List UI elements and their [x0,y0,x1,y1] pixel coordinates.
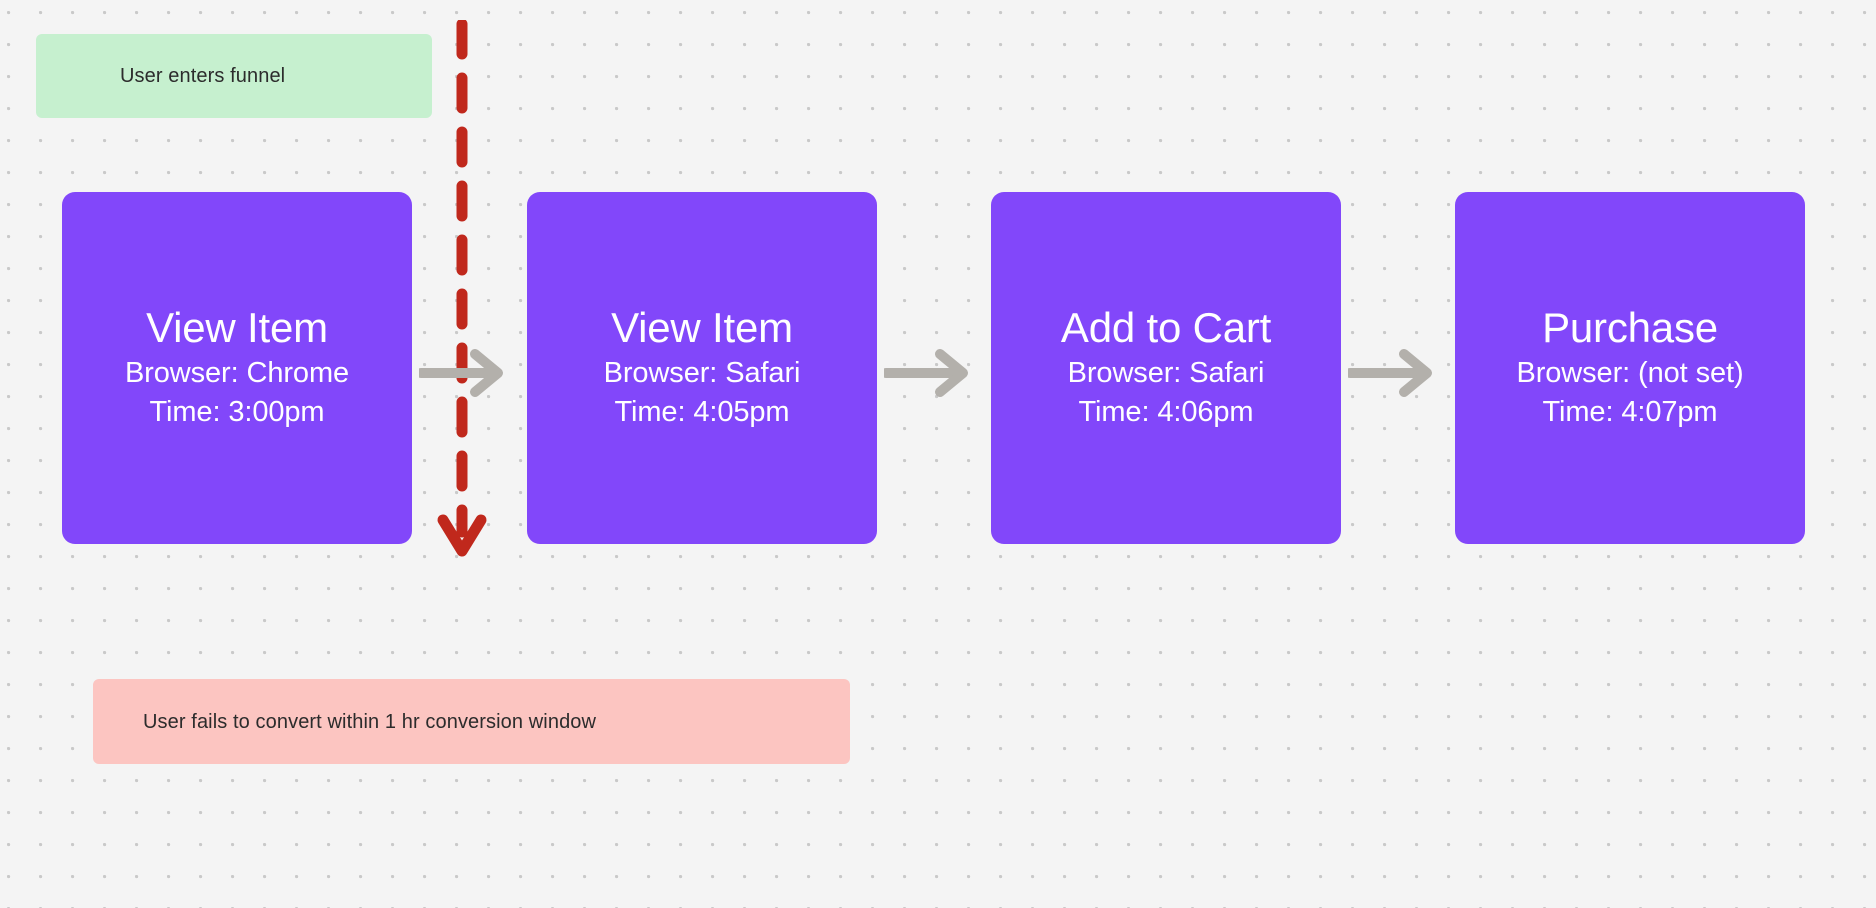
arrow-right-icon [419,349,505,397]
flow-arrow-2 [884,349,970,397]
diagram-canvas: User enters funnel View Item Browser: Ch… [0,0,1876,908]
arrow-right-icon [884,349,970,397]
dropoff-arrow-icon [434,20,490,670]
node-time: Time: 4:07pm [1542,393,1717,432]
node-title: View Item [611,305,793,350]
dropoff-dashed-arrow [434,20,490,670]
node-title: Add to Cart [1061,305,1271,350]
node-time: Time: 4:05pm [614,393,789,432]
node-browser: Browser: (not set) [1516,354,1743,393]
funnel-node-view-item-safari[interactable]: View Item Browser: Safari Time: 4:05pm [527,192,877,544]
node-title: View Item [146,305,328,350]
annotation-failure-label: User fails to convert within 1 hr conver… [143,710,596,734]
node-time: Time: 4:06pm [1078,393,1253,432]
node-time: Time: 3:00pm [149,393,324,432]
node-browser: Browser: Safari [1068,354,1265,393]
node-title: Purchase [1542,305,1718,350]
node-browser: Browser: Chrome [125,354,349,393]
annotation-entry-label: User enters funnel [120,64,285,88]
flow-arrow-1 [419,349,505,397]
funnel-node-purchase[interactable]: Purchase Browser: (not set) Time: 4:07pm [1455,192,1805,544]
annotation-conversion-failure: User fails to convert within 1 hr conver… [93,679,850,764]
funnel-node-view-item-chrome[interactable]: View Item Browser: Chrome Time: 3:00pm [62,192,412,544]
funnel-node-add-to-cart[interactable]: Add to Cart Browser: Safari Time: 4:06pm [991,192,1341,544]
node-browser: Browser: Safari [604,354,801,393]
arrow-right-icon [1348,349,1434,397]
flow-arrow-3 [1348,349,1434,397]
annotation-user-enters-funnel: User enters funnel [36,34,432,118]
